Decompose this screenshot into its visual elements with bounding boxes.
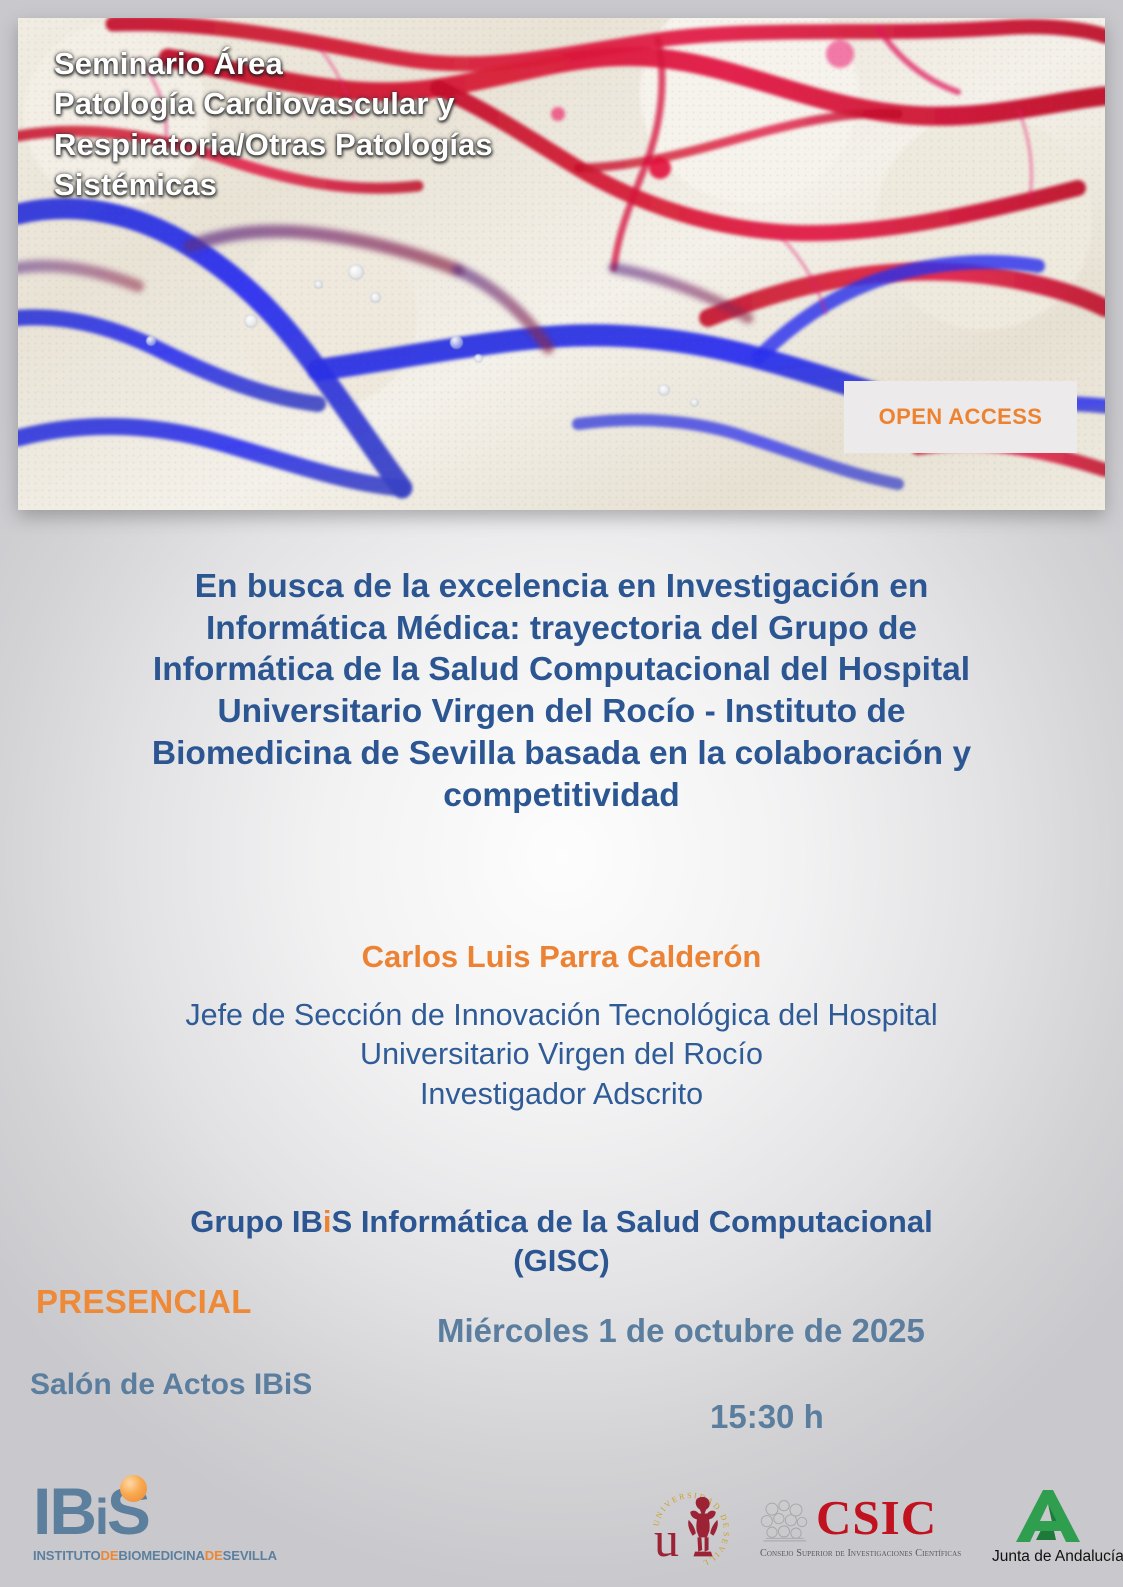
hero-image-container: Seminario Área Patología Cardiovascular …: [18, 18, 1105, 510]
us-hercules-figure-icon: [687, 1496, 719, 1558]
event-date: Miércoles 1 de octubre de 2025: [437, 1312, 925, 1350]
csic-logo: CSIC Consejo Superior de Investigaciones…: [758, 1492, 990, 1568]
page-title: En busca de la excelencia en Investigaci…: [46, 566, 1077, 816]
venue-label: Salón de Actos IBiS: [30, 1368, 312, 1402]
junta-de-andalucia-logo: Junta de Andalucía: [992, 1488, 1112, 1572]
institution-logos: UNIVERSIDAD DE SEVILLA u: [640, 1484, 1110, 1576]
ibis-word-ib: IB: [33, 1474, 95, 1548]
junta-a-symbol-icon: [1012, 1488, 1084, 1544]
csic-tagline: Consejo Superior de Investigaciones Cien…: [760, 1548, 961, 1559]
group-name-accent: i: [323, 1204, 332, 1239]
ibis-wordmark: IBiS: [33, 1478, 308, 1546]
vacuole: [690, 398, 699, 407]
ibis-tagline-biomedicina: BIOMEDICINA: [118, 1548, 204, 1563]
histology-image: Seminario Área Patología Cardiovascular …: [18, 18, 1105, 510]
seminar-series-title: Seminario Área Patología Cardiovascular …: [54, 44, 774, 205]
ibis-word-i: i: [95, 1489, 107, 1545]
vacuole: [450, 336, 463, 349]
speaker-affiliation: Jefe de Sección de Innovación Tecnológic…: [24, 996, 1099, 1114]
open-access-badge: OPEN ACCESS: [844, 381, 1077, 453]
vacuole: [370, 292, 381, 303]
universidad-de-sevilla-logo: UNIVERSIDAD DE SEVILLA u: [640, 1484, 748, 1572]
ibis-tagline-sevilla: SEVILLA: [223, 1548, 277, 1563]
vacuole: [474, 354, 483, 363]
ibis-orange-dot-icon: [120, 1475, 147, 1502]
vacuole: [244, 314, 258, 328]
vacuole: [658, 384, 670, 396]
us-letter-u: u: [654, 1514, 679, 1564]
vacuole: [314, 280, 323, 289]
attendance-mode-badge: PRESENCIAL: [36, 1283, 252, 1321]
research-group-line: Grupo IBiS Informática de la Salud Compu…: [36, 1164, 1087, 1280]
group-name-prefix: Grupo IB: [190, 1204, 323, 1239]
open-access-label: OPEN ACCESS: [879, 404, 1043, 430]
speaker-name: Carlos Luis Parra Calderón: [46, 938, 1077, 975]
ibis-logo: IBiS INSTITUTODEBIOMEDICINADESEVILLA: [33, 1478, 308, 1570]
ibis-tagline-de-1: DE: [101, 1548, 119, 1563]
vacuole: [348, 264, 364, 280]
seminar-poster: Seminario Área Patología Cardiovascular …: [0, 0, 1123, 1587]
group-name-suffix: S Informática de la Salud Computacional …: [332, 1204, 933, 1278]
junta-label: Junta de Andalucía: [992, 1548, 1112, 1566]
csic-wordmark: CSIC: [816, 1492, 937, 1544]
ibis-tagline-de-2: DE: [205, 1548, 223, 1563]
ibis-tagline: INSTITUTODEBIOMEDICINADESEVILLA: [33, 1548, 308, 1563]
csic-seal-icon: [758, 1498, 810, 1546]
ibis-tagline-instituto: INSTITUTO: [33, 1548, 101, 1563]
event-time: 15:30 h: [710, 1398, 824, 1436]
vacuole: [146, 336, 156, 346]
